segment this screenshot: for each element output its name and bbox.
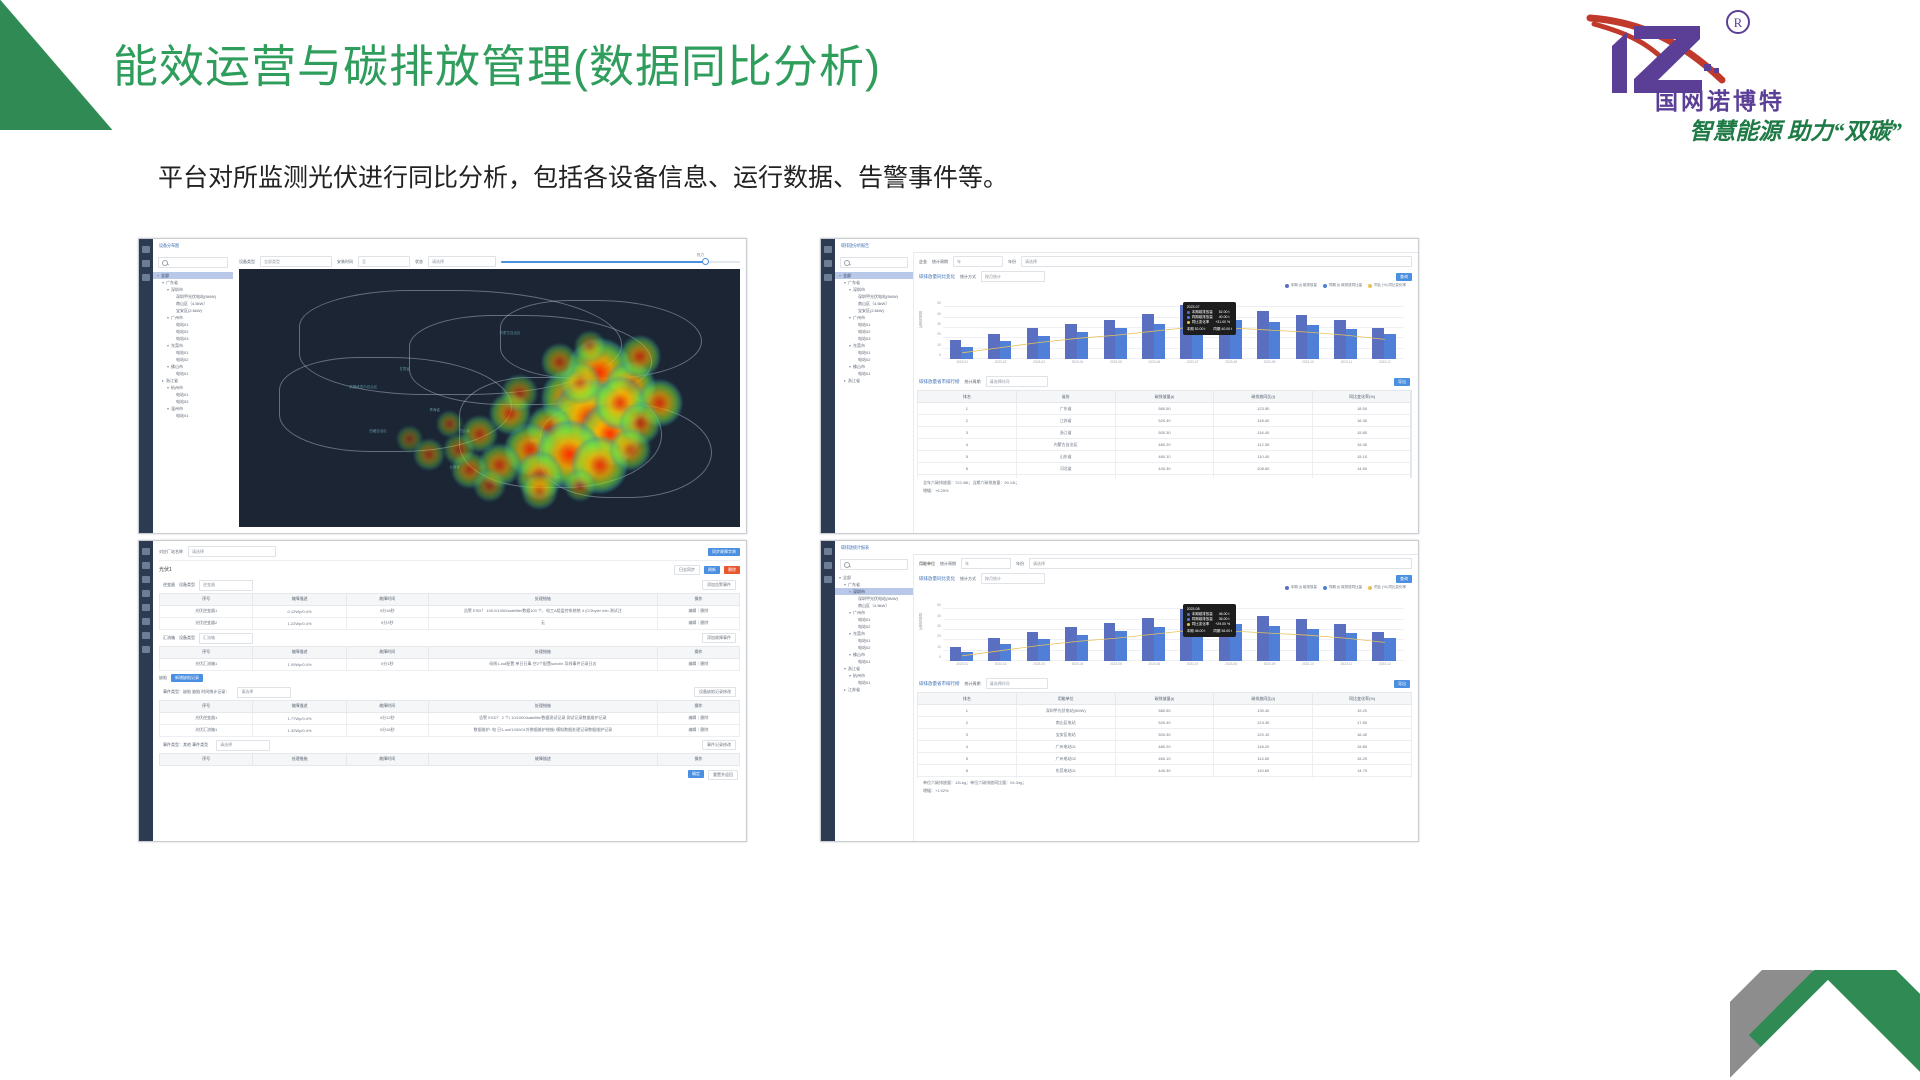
x-axis-tick: 2023-01 xyxy=(956,662,968,666)
breadcrumb: 碳排放分析报告 xyxy=(835,239,1418,253)
org-tree-panel[interactable]: ▾全部▾广东省▾深圳市深圳甲光伏电站(5MW)南山区（4.5kW）▾广州市电站0… xyxy=(835,554,914,841)
tree-node[interactable]: ▾广东省 xyxy=(839,581,909,588)
tree-node[interactable]: 电站03 xyxy=(839,335,909,342)
table-cell: 110.60 xyxy=(1214,765,1313,777)
tooltip-row: 同比变化率+29.00 % xyxy=(1187,622,1232,627)
legend-item[interactable]: 本期 (t) 碳排放量 xyxy=(1285,283,1317,288)
map-region-label: 青海省 xyxy=(429,408,440,413)
tooltip-footer-right: 同期 36.00 t xyxy=(1213,629,1232,634)
summary-line-1: 单位六碳排放量：12t-kg；单位六碳排放同比量：04.34g； xyxy=(917,778,1412,788)
column-header: 操作 xyxy=(657,646,739,658)
table-cell: 河北省 xyxy=(1016,463,1115,475)
log-sync-button[interactable]: 日志同步 xyxy=(674,565,700,575)
delete-button[interactable]: 删除 xyxy=(724,566,740,574)
table-cell: 2 xyxy=(918,415,1017,427)
tree-node-label: 电站02 xyxy=(858,329,870,335)
x-axis-tick: 2023-10 xyxy=(1302,662,1314,666)
tree-node-label: 电站02 xyxy=(858,624,870,630)
add-defect-record-button[interactable]: 新增缺陷记录 xyxy=(171,674,203,682)
query-button[interactable]: 查询 xyxy=(1396,575,1412,583)
device-tree-panel[interactable]: ▾全部▾广东省▾深圳市深圳甲光伏电站(5MW)南山区（4.5kW）宝安区(2.6… xyxy=(153,252,234,533)
legend-label: 同期 (t) 碳排放同比量 xyxy=(1329,585,1362,590)
table-cell: 118.20 xyxy=(1214,741,1313,753)
column-header: 处理措施 xyxy=(253,753,346,765)
tree-node[interactable]: 电站01 xyxy=(839,321,909,328)
filter-label-period: 统计周期 xyxy=(932,259,948,265)
tree-node[interactable]: ▾广州市 xyxy=(157,314,229,321)
section-type-select[interactable]: 请选择 xyxy=(216,740,270,751)
tree-node[interactable]: 电站01 xyxy=(157,370,229,377)
table-cell: 440.30 xyxy=(1115,463,1214,475)
tree-node-label: 电站01 xyxy=(858,371,870,377)
table-cell: 500.30 xyxy=(1115,427,1214,439)
table-row[interactable]: 光伏逆变器21.22Wp/0.4%0分2秒无编辑｜删除 xyxy=(160,617,740,629)
table-cell: 6 xyxy=(918,463,1017,475)
tree-node[interactable]: 电站01 xyxy=(157,412,229,419)
tree-node-label: 电站02 xyxy=(176,329,188,335)
breadcrumb-label: 碳排放分析报告 xyxy=(841,242,869,249)
screenshot-alarm-event-management[interactable]: 对应厂站名称 请选择 同步故障字典 光伏1 日志同步 刷新 删除 逆变器设备类型… xyxy=(138,540,747,842)
table-row[interactable]: 3宝安区电站500.30120.1016.40 xyxy=(918,729,1412,741)
table-row[interactable]: 4广州电站01480.20118.2015.80 xyxy=(918,741,1412,753)
alarm-sections[interactable]: 逆变器设备类型逆变器添加告警事件序号故障描述故障时间处理措施操作光伏逆变器10.… xyxy=(153,577,746,671)
table-row[interactable]: 6东莞电站01440.30110.6014.70 xyxy=(918,765,1412,777)
legend-label: 同比 (%) 同比变化率 xyxy=(1374,585,1406,590)
tree-node[interactable]: ▾东莞市 xyxy=(839,630,909,637)
section-device-name: 逆变器 xyxy=(163,582,175,588)
section-device-name: 事件类型：其他 事件类型 xyxy=(163,742,208,748)
tooltip-footer-left: 本期 52.00 t xyxy=(1187,327,1206,332)
tree-node[interactable]: 电站01 xyxy=(839,616,909,623)
x-axis-tick: 2023-06 xyxy=(1148,360,1160,364)
table-cell: 440.30 xyxy=(1115,765,1214,777)
tree-node-label: 南山区（4.5kW） xyxy=(858,301,889,307)
table-cell: 1 xyxy=(918,705,1017,717)
table-cell: 0分18秒 xyxy=(346,605,428,617)
tree-node[interactable]: ▾杭州市 xyxy=(157,384,229,391)
rail-icon-home[interactable] xyxy=(824,548,832,555)
table-cell: 106.20 xyxy=(1214,475,1313,479)
tree-node[interactable]: 电站01 xyxy=(839,679,909,686)
rail-icon-home[interactable] xyxy=(142,548,150,555)
heatmap-hotspot xyxy=(620,336,660,377)
ranking-table: 排名省份碳排放量(t)碳排放同比(t)同比变化率(%)1广东省560.50123… xyxy=(917,390,1412,478)
rail-icon-analysis[interactable] xyxy=(824,562,832,569)
map-area[interactable]: 设备类型 全部类型 安装时间 至 状态 请选择 热力 新疆维吾尔自治区青海省西藏… xyxy=(233,252,746,533)
tree-node[interactable]: ▾广东省 xyxy=(839,279,909,286)
tree-node[interactable]: 电站01 xyxy=(157,321,229,328)
search-input[interactable] xyxy=(840,559,908,570)
section-type-select[interactable]: 汇流箱 xyxy=(199,633,253,644)
section-header: 事件类型：缺陷 缺陷 时间统计记录：请选择设备缺陷记录修改 xyxy=(159,684,740,700)
ranking-period-select[interactable]: 请选择时间 xyxy=(986,678,1048,689)
column-header: 故障时间 xyxy=(346,646,428,658)
tree-node[interactable]: 宝安区(2.6kW) xyxy=(839,307,909,314)
filter-label-station: 对应厂站名称 xyxy=(159,549,183,555)
tree-node-label: 电站02 xyxy=(176,357,188,363)
ranking-period-select[interactable]: 请选择时间 xyxy=(986,376,1048,387)
chart-plot-area[interactable]: 010203040502023-012023-022023-032023-042… xyxy=(943,297,1404,359)
chart-main-area[interactable]: 企业 统计周期 年 年份 请选择 碳排放量同比变化 统计方式 按月统计 查询 本… xyxy=(913,252,1418,533)
tree-node[interactable]: 电站01 xyxy=(157,349,229,356)
alarm-table[interactable]: 序号处理措施故障时间故障描述操作 xyxy=(159,753,740,766)
filter-select-period[interactable]: 年 xyxy=(953,256,1003,267)
tree-node[interactable]: 电站03 xyxy=(157,335,229,342)
alarm-table[interactable]: 序号故障描述故障时间处理措施操作光伏汇流箱11.00Wp/0.4%0分1秒母线1… xyxy=(159,646,740,671)
chart-stat-mode-select[interactable]: 按月统计 xyxy=(981,271,1045,282)
tree-node[interactable]: ▾广东省 xyxy=(157,279,229,286)
table-row[interactable]: 2南山区电站520.40124.3017.50 xyxy=(918,717,1412,729)
table-cell: 130.40 xyxy=(1214,705,1313,717)
table-row[interactable]: 光伏汇流箱11.00Wp/0.4%0分1秒母线1-out配置 单日日事-空2个配… xyxy=(160,658,740,670)
table-cell: 0分12秒 xyxy=(346,712,428,724)
search-input[interactable] xyxy=(158,257,228,268)
table-row[interactable]: 2江苏省520.40118.4016.30 xyxy=(918,415,1412,427)
rail-icon-device[interactable] xyxy=(142,576,150,583)
tree-node-label: 佛山市 xyxy=(853,652,865,658)
tree-node[interactable]: 电站02 xyxy=(839,644,909,651)
rail-icon-report[interactable] xyxy=(142,632,150,639)
carbon-emission-bar-chart[interactable]: 本期 (t) 碳排放量同期 (t) 碳排放同比量同比 (%) 同比变化率0102… xyxy=(917,585,1412,673)
x-axis-tick: 2023-07 xyxy=(1187,360,1199,364)
table-header-row: 排名用能单位碳排放量(t)碳排放同比(t)同比变化率(%) xyxy=(918,693,1412,705)
table-row[interactable]: 3浙江省500.30116.4015.80 xyxy=(918,427,1412,439)
tooltip-value: +31.00 % xyxy=(1215,320,1230,325)
x-axis-tick: 2023-09 xyxy=(1264,662,1276,666)
export-button[interactable]: 导出 xyxy=(1394,378,1410,386)
table-header-row: 序号故障描述故障时间处理措施操作 xyxy=(160,593,740,605)
table-row[interactable]: 光伏逆变器10.12Wp/0.4%0分18秒告警 ESD？ 100.0/1000… xyxy=(160,605,740,617)
table-cell: 14.60 xyxy=(1313,463,1412,475)
legend-item[interactable]: 同期 (t) 碳排放同比量 xyxy=(1323,585,1362,590)
screenshot-device-distribution-map[interactable]: 设备分布图 ▾全部▾广东省▾深圳市深圳甲光伏电站(5MW)南山区（4.5kW）宝… xyxy=(138,238,747,534)
legend-color-dot xyxy=(1285,284,1289,288)
chart-legend[interactable]: 本期 (t) 碳排放量同期 (t) 碳排放同比量同比 (%) 同比变化率 xyxy=(917,283,1412,288)
tree-node[interactable]: ▾佛山市 xyxy=(839,651,909,658)
tree-node[interactable]: ▾全部 xyxy=(835,272,913,279)
chart-tooltip: 2023-07本期碳排放量52.00 t同期碳排放量40.00 t同比变化率+3… xyxy=(1183,302,1236,335)
column-header: 序号 xyxy=(160,593,253,605)
sync-fault-dictionary-button[interactable]: 同步故障字典 xyxy=(708,548,740,556)
tree-node[interactable]: ▸浙江省 xyxy=(839,377,909,384)
org-tree-panel[interactable]: ▾全部▾广东省▾深圳市深圳甲光伏电站(5MW)南山区（4.5kW）宝安区(2.6… xyxy=(835,252,914,533)
tree-node[interactable]: ▾杭州市 xyxy=(839,672,909,679)
export-button[interactable]: 导出 xyxy=(1394,680,1410,688)
section-header: 事件类型：其他 事件类型请选择事件记录修改 xyxy=(159,737,740,753)
tree-node[interactable]: 电站02 xyxy=(839,356,909,363)
query-button[interactable]: 查询 xyxy=(1396,273,1412,281)
ranking-table: 排名用能单位碳排放量(t)碳排放同比(t)同比变化率(%)1深圳甲光伏电站(5M… xyxy=(917,692,1412,778)
chart-legend[interactable]: 本期 (t) 碳排放量同期 (t) 碳排放同比量同比 (%) 同比变化率 xyxy=(917,585,1412,590)
y-axis-title: 碳排放量(t) xyxy=(919,311,924,328)
add-event-button[interactable]: 设备缺陷记录修改 xyxy=(694,687,736,697)
table-cell: 520.40 xyxy=(1115,415,1214,427)
heatmap-hotspot xyxy=(502,375,537,411)
left-rail[interactable] xyxy=(139,541,153,841)
tree-node[interactable]: 深圳甲光伏电站(5MW) xyxy=(839,595,909,602)
tree-node[interactable]: 电站02 xyxy=(839,623,909,630)
table-scrollbar[interactable] xyxy=(1410,390,1412,478)
tree-node[interactable]: 电站01 xyxy=(839,658,909,665)
table-cell: 15.80 xyxy=(1313,741,1412,753)
left-rail[interactable] xyxy=(821,541,835,841)
tree-node-label: 佛山市 xyxy=(171,364,183,370)
filter-select-type[interactable]: 全部类型 xyxy=(260,256,332,267)
filter-select-year[interactable]: 请选择 xyxy=(1021,256,1412,267)
heatmap-hotspot xyxy=(397,426,422,452)
table-cell: 广东省 xyxy=(1016,403,1115,415)
chart-tooltip: 2023-08本期碳排放量46.00 t同期碳排放量36.00 t同比变化率+2… xyxy=(1183,604,1236,637)
tree-node[interactable]: ▾佛山市 xyxy=(157,363,229,370)
map-region-label: 甘肃省 xyxy=(399,367,410,372)
table-cell: 深圳甲光伏电站(5MW) xyxy=(1016,705,1115,717)
device-tree[interactable]: ▾全部▾广东省▾深圳市深圳甲光伏电站(5MW)南山区（4.5kW）宝安区(2.6… xyxy=(153,272,233,419)
table-row[interactable]: 1广东省560.50123.5018.50 xyxy=(918,403,1412,415)
filter-select-year[interactable]: 请选择 xyxy=(1029,558,1412,569)
table-cell: 0分2秒 xyxy=(346,617,428,629)
filter-select-period[interactable]: 年 xyxy=(961,558,1011,569)
tree-node[interactable]: 南山区（4.5kW） xyxy=(839,300,909,307)
rail-icon-monitor[interactable] xyxy=(142,260,150,267)
tree-node[interactable]: ▾佛山市 xyxy=(839,363,909,370)
tree-node[interactable]: 电站01 xyxy=(839,637,909,644)
filter-date-range[interactable]: 至 xyxy=(358,256,410,267)
alarm-table[interactable]: 序号故障描述故障时间处理措施操作光伏逆变器10.12Wp/0.4%0分18秒告警… xyxy=(159,593,740,630)
heatmap-hotspot xyxy=(565,470,595,501)
tree-node-label: 深圳甲光伏电站(5MW) xyxy=(858,596,898,602)
slider-knob[interactable] xyxy=(702,258,709,265)
table-cell: 告警 ESD？ 2 个/ 10/1000/satellite/数据测试记录 测试… xyxy=(428,712,657,724)
table-row[interactable]: 光伏汇流箱11.32Wp/0.4%0分16秒数据维护- 电 日1-out/100… xyxy=(160,724,740,736)
add-event-button[interactable]: 添加告警事件 xyxy=(702,580,736,590)
tooltip-color-dot xyxy=(1187,618,1190,621)
table-cell: 480.20 xyxy=(1115,439,1214,451)
tree-node[interactable]: 电站02 xyxy=(157,328,229,335)
column-header: 操作 xyxy=(657,700,739,712)
rail-icon-alarm[interactable] xyxy=(142,590,150,597)
tree-node-label: 广东省 xyxy=(848,582,860,588)
tree-node-label: 电站01 xyxy=(858,617,870,623)
x-axis-tick: 2023-02 xyxy=(995,662,1007,666)
tree-node[interactable]: 电站01 xyxy=(839,349,909,356)
rail-icon-settings[interactable] xyxy=(142,646,150,653)
tree-node-label: 深圳市 xyxy=(171,287,183,293)
tooltip-color-dot xyxy=(1187,321,1190,324)
tree-node[interactable]: 深圳甲光伏电站(5MW) xyxy=(839,293,909,300)
tree-node[interactable]: ▾广州市 xyxy=(839,609,909,616)
chart-stat-mode-select[interactable]: 按月统计 xyxy=(981,573,1045,584)
legend-item[interactable]: 同期 (t) 碳排放同比量 xyxy=(1323,283,1362,288)
rail-icon-report[interactable] xyxy=(142,274,150,281)
tree-node-label: 电站01 xyxy=(858,350,870,356)
tree-node-label: 浙江省 xyxy=(166,378,178,384)
tree-node[interactable]: ▾广州市 xyxy=(839,314,909,321)
x-axis-tick: 2023-11 xyxy=(1341,360,1352,364)
table-row[interactable]: 1深圳甲光伏电站(5MW)580.50130.4019.20 xyxy=(918,705,1412,717)
table-row[interactable]: 7河南省420.20106.2014.20 xyxy=(918,475,1412,479)
table-row[interactable]: 6河北省440.30108.6014.60 xyxy=(918,463,1412,475)
tree-node[interactable]: 宝安区(2.6kW) xyxy=(157,307,229,314)
table-cell: 告警 ESD？ 100.0/1000/satellite/数据100 个、电工A… xyxy=(428,605,657,617)
heat-intensity-slider[interactable]: 热力 xyxy=(501,257,740,266)
section-type-select[interactable]: 请选择 xyxy=(237,687,291,698)
y-axis-tick: 20 xyxy=(937,634,941,638)
table-cell: 编辑｜删除 xyxy=(657,724,739,736)
table-cell: 560.50 xyxy=(1115,403,1214,415)
reset-return-button[interactable]: 重置并返回 xyxy=(708,770,738,780)
section-type-label: 设备类型 xyxy=(179,582,195,588)
legend-item[interactable]: 同比 (%) 同比变化率 xyxy=(1368,283,1406,288)
chart-panel-title: 碳排放量同比变化 xyxy=(919,576,955,582)
tree-node[interactable]: ▾东莞市 xyxy=(839,342,909,349)
carbon-emission-bar-chart[interactable]: 本期 (t) 碳排放量同期 (t) 碳排放同比量同比 (%) 同比变化率0102… xyxy=(917,283,1412,371)
screenshot-carbon-emission-analysis[interactable]: 碳排放分析报告 ▾全部▾广东省▾深圳市深圳甲光伏电站(5MW)南山区（4.5kW… xyxy=(820,238,1419,534)
tree-node[interactable]: ▾深圳市 xyxy=(839,286,909,293)
rail-icon-home[interactable] xyxy=(142,246,150,253)
table-cell: 420.20 xyxy=(1115,777,1214,779)
rail-icon-carbon[interactable] xyxy=(142,618,150,625)
map-toolbar[interactable]: 设备类型 全部类型 安装时间 至 状态 请选择 热力 xyxy=(233,252,746,270)
corner-accent-top-left xyxy=(0,0,112,130)
add-event-button[interactable]: 事件记录修改 xyxy=(702,740,736,750)
table-cell: 数据维护- 电 日1-out/1000/01外数据维护措施/ 模拟数据处理记录数… xyxy=(428,724,657,736)
company-logo: R 国网诺博特 智慧能源 助力“双碳” xyxy=(1572,8,1902,143)
tree-node[interactable]: 电站02 xyxy=(157,356,229,363)
rail-icon-energy[interactable] xyxy=(142,604,150,611)
table-cell: 无 xyxy=(428,617,657,629)
column-header: 同比变化率(%) xyxy=(1313,693,1412,705)
legend-label: 同期 (t) 碳排放同比量 xyxy=(1329,283,1362,288)
tree-node[interactable]: ▸浙江省 xyxy=(157,377,229,384)
tree-node[interactable]: 深圳甲光伏电站(5MW) xyxy=(157,293,229,300)
rail-icon-report[interactable] xyxy=(824,576,832,583)
tree-node-label: 南山区（4.5kW） xyxy=(858,603,889,609)
tree-node[interactable]: ▾深圳市 xyxy=(835,588,913,595)
table-row[interactable]: 5广州电站02460.10114.5015.20 xyxy=(918,753,1412,765)
china-heatmap-canvas[interactable]: 新疆维吾尔自治区青海省西藏自治区内蒙古自治区甘肃省四川省云南省湖南省江西省福建省… xyxy=(239,269,740,527)
legend-item[interactable]: 本期 (t) 碳排放量 xyxy=(1285,585,1317,590)
tree-node[interactable]: 电站01 xyxy=(157,391,229,398)
tree-node-label: 广州市 xyxy=(853,610,865,616)
tree-node[interactable]: 南山区（4.5kW） xyxy=(157,300,229,307)
table-row[interactable]: 光伏逆变器11.77Wp/0.4%0分12秒告警 ESD？ 2 个/ 10/10… xyxy=(160,712,740,724)
defect-tab-label[interactable]: 缺陷 xyxy=(159,675,167,681)
org-tree[interactable]: ▾全部▾广东省▾深圳市深圳甲光伏电站(5MW)南山区（4.5kW）宝安区(2.6… xyxy=(835,272,913,384)
column-header: 省份 xyxy=(1016,391,1115,403)
org-tree[interactable]: ▾全部▾广东省▾深圳市深圳甲光伏电站(5MW)南山区（4.5kW）▾广州市电站0… xyxy=(835,574,913,693)
search-input[interactable] xyxy=(840,257,908,268)
chart-line-series xyxy=(943,599,1404,661)
tree-node[interactable]: ▾温州市 xyxy=(157,405,229,412)
column-header: 处理措施 xyxy=(428,700,657,712)
table-cell: 南山区电站 xyxy=(1016,717,1115,729)
left-rail[interactable] xyxy=(139,239,153,533)
filter-select-state[interactable]: 请选择 xyxy=(428,256,496,267)
table-cell: 15.20 xyxy=(1313,753,1412,765)
rail-icon-analysis[interactable] xyxy=(824,260,832,267)
table-cell: 6 xyxy=(918,765,1017,777)
tooltip-label: 同比变化率 xyxy=(1192,622,1210,627)
left-rail[interactable] xyxy=(821,239,835,533)
section-type-select[interactable]: 逆变器 xyxy=(199,580,253,591)
tree-node[interactable]: ▾深圳市 xyxy=(157,286,229,293)
table-cell: 1.77Wp/0.4% xyxy=(253,712,346,724)
x-axis-tick: 2023-04 xyxy=(1072,662,1084,666)
table-cell: 114.50 xyxy=(1214,753,1313,765)
chart-main-area[interactable]: 用能单位 统计周期 年 年份 请选择 碳排放量同比变化 统计方式 按月统计 查询… xyxy=(913,554,1418,841)
chart-stat-mode-label: 统计方式 xyxy=(960,576,976,582)
tree-node-label: 东莞市 xyxy=(853,343,865,349)
rail-icon-report[interactable] xyxy=(824,274,832,281)
alarm-table[interactable]: 序号故障描述故障时间处理措施操作光伏逆变器11.77Wp/0.4%0分12秒告警… xyxy=(159,700,740,737)
refresh-button[interactable]: 刷新 xyxy=(704,566,720,574)
heatmap-hotspot xyxy=(522,473,557,509)
tree-node[interactable]: 电站01 xyxy=(839,370,909,377)
search-icon xyxy=(162,260,168,266)
screenshot-carbon-emission-statistics[interactable]: 碳排放统计报表 ▾全部▾广东省▾深圳市深圳甲光伏电站(5MW)南山区（4.5kW… xyxy=(820,540,1419,842)
table-row[interactable]: 7佛山电站01420.20108.4014.10 xyxy=(918,777,1412,779)
tooltip-value: +29.00 % xyxy=(1215,622,1230,627)
y-axis-tick: 30 xyxy=(937,322,941,326)
table-row[interactable]: 5山东省460.10110.4015.10 xyxy=(918,451,1412,463)
chart-plot-area[interactable]: 010203040502023-012023-022023-032023-042… xyxy=(943,599,1404,661)
tree-node-label: 电站01 xyxy=(858,322,870,328)
column-header: 故障时间 xyxy=(346,700,428,712)
table-cell: 580.50 xyxy=(1115,705,1214,717)
x-axis-tick: 2023-11 xyxy=(1341,662,1352,666)
table-cell: 光伏逆变器1 xyxy=(160,712,253,724)
search-icon xyxy=(844,562,850,568)
table-cell: 118.40 xyxy=(1214,415,1313,427)
tree-node[interactable]: 电站02 xyxy=(839,328,909,335)
table-cell: 500.30 xyxy=(1115,729,1214,741)
filter-select-station[interactable]: 请选择 xyxy=(188,546,276,557)
alarm-lower-sections[interactable]: 事件类型：缺陷 缺陷 时间统计记录：请选择设备缺陷记录修改序号故障描述故障时间处… xyxy=(153,684,746,766)
logo-tagline: 智慧能源 助力“双碳” xyxy=(1582,112,1902,146)
table-cell: 0分16秒 xyxy=(346,724,428,736)
tree-node[interactable]: 南山区（4.5kW） xyxy=(839,602,909,609)
tree-node[interactable]: ▾全部 xyxy=(839,574,909,581)
column-header: 处理措施 xyxy=(428,593,657,605)
legend-item[interactable]: 同比 (%) 同比变化率 xyxy=(1368,585,1406,590)
rail-icon-dashboard[interactable] xyxy=(142,562,150,569)
column-header: 碳排放量(t) xyxy=(1115,693,1214,705)
table-cell: 120.10 xyxy=(1214,729,1313,741)
add-event-button[interactable]: 添加故障事件 xyxy=(702,633,736,643)
column-header: 故障描述 xyxy=(253,646,346,658)
table-cell: 14.70 xyxy=(1313,765,1412,777)
rail-icon-home[interactable] xyxy=(824,246,832,253)
table-cell: 3 xyxy=(918,427,1017,439)
table-cell: 0.12Wp/0.4% xyxy=(253,605,346,617)
tree-node[interactable]: 电站02 xyxy=(157,398,229,405)
tree-node[interactable]: ▾东莞市 xyxy=(157,342,229,349)
tree-node-label: 浙江省 xyxy=(848,378,860,384)
table-cell: 1.00Wp/0.4% xyxy=(253,658,346,670)
tree-node-label: 全部 xyxy=(161,273,169,279)
table-cell: 河南省 xyxy=(1016,475,1115,479)
map-region-label: 西藏自治区 xyxy=(369,429,387,434)
confirm-button[interactable]: 确定 xyxy=(688,770,704,778)
tree-node[interactable]: ▾浙江省 xyxy=(839,665,909,672)
tree-node[interactable]: ▾全部 xyxy=(153,272,233,279)
tree-node[interactable]: ▸江苏省 xyxy=(839,686,909,693)
chart-panel-title: 碳排放量同比变化 xyxy=(919,274,955,280)
table-row[interactable]: 4内蒙古自治区480.20112.3015.40 xyxy=(918,439,1412,451)
tree-node-label: 电站03 xyxy=(858,336,870,342)
group-title: 光伏1 xyxy=(159,566,172,573)
table-cell: 0分1秒 xyxy=(346,658,428,670)
